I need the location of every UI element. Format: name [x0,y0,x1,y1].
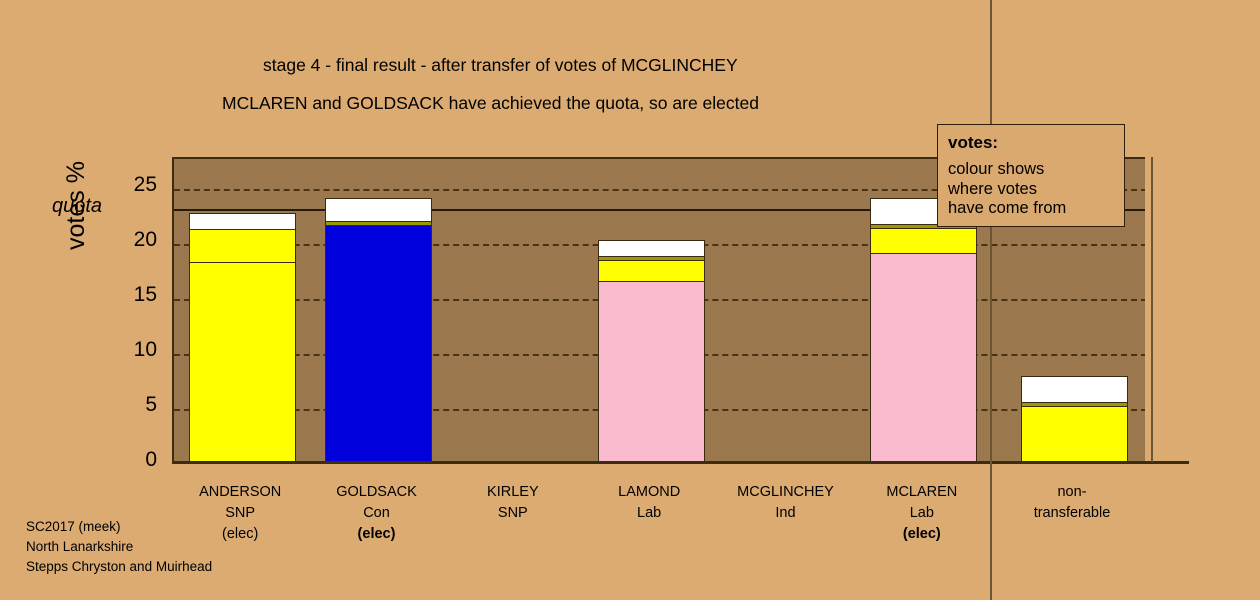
bar-mclaren[interactable] [870,198,977,462]
x-label-status: (elec) [832,524,1012,545]
chart-subtitle: MCLAREN and GOLDSACK have achieved the q… [222,93,759,114]
chart-title: stage 4 - final result - after transfer … [263,55,738,76]
x-label-party: transferable [982,503,1162,524]
footer-line-2: North Lanarkshire [26,537,212,557]
bar-segment [326,199,431,221]
quota-label: quota [52,195,102,218]
chart-canvas: stage 4 - final result - after transfer … [0,0,1260,600]
x-label-name: non- [982,482,1162,503]
bar-segment [599,241,704,256]
legend-line-1: colour shows [948,160,1124,180]
bar-segment [326,225,431,462]
bar-segment [871,253,976,462]
plot-right-mask [1145,157,1147,462]
bar-non-transferable[interactable] [1021,376,1128,462]
y-tick-5: 5 [97,393,157,417]
x-label-non: non-transferable [982,482,1162,524]
y-tick-10: 10 [97,338,157,362]
legend-line-2: where votes [948,180,1124,200]
footer-credit: SC2017 (meek) North Lanarkshire Stepps C… [26,517,212,577]
y-tick-15: 15 [97,283,157,307]
x-axis-line [172,461,1189,464]
footer-line-3: Stepps Chryston and Muirhead [26,557,212,577]
footer-line-1: SC2017 (meek) [26,517,212,537]
bar-lamond[interactable] [598,240,705,462]
y-tick-25: 25 [97,173,157,197]
bar-segment [1022,406,1127,462]
legend-box: votes: colour shows where votes have com… [937,124,1125,227]
bar-segment [1022,377,1127,402]
bar-segment [871,228,976,253]
bar-segment [599,281,704,462]
y-tick-0: 0 [97,448,157,472]
y-tick-20: 20 [97,228,157,252]
bar-segment [190,262,295,462]
legend-line-3: have come from [948,199,1124,219]
plot-right-separator [1151,157,1153,462]
bar-segment [190,214,295,229]
bar-segment [599,260,704,281]
legend-title: votes: [948,133,1124,153]
bar-goldsack[interactable] [325,198,432,462]
y-axis-ticks: 0510152025 [95,0,157,600]
bar-anderson[interactable] [189,213,296,462]
x-label-status: (elec) [287,524,467,545]
bar-segment [190,229,295,262]
